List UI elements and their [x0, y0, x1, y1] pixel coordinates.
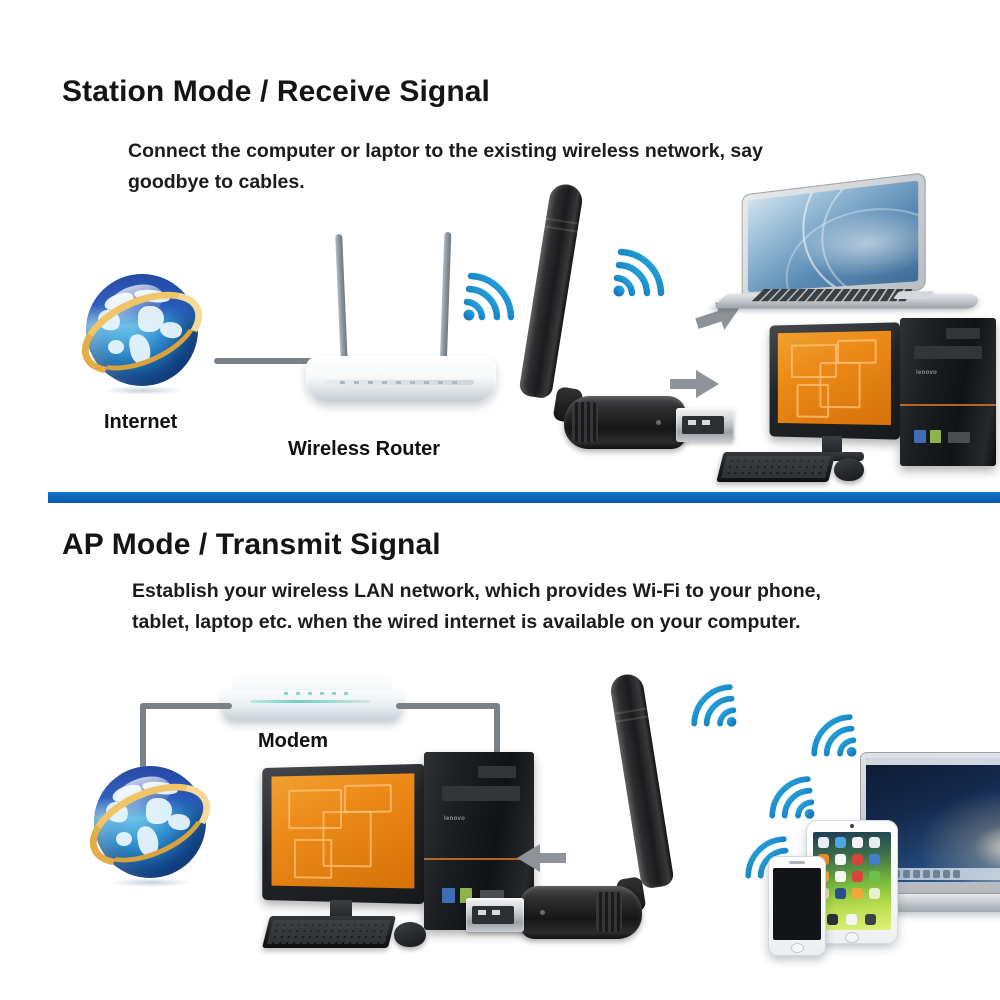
- cable-modem-to-internet: [140, 703, 232, 709]
- ap-mode-heading: AP Mode / Transmit Signal: [62, 528, 441, 562]
- section-ap-mode: AP Mode / Transmit Signal Establish your…: [0, 520, 1000, 1000]
- section-divider: [48, 492, 1000, 503]
- usb-wifi-adapter-device: [500, 666, 700, 956]
- wireless-router-label: Wireless Router: [288, 438, 440, 461]
- ap-mode-description: Establish your wireless LAN network, whi…: [132, 576, 822, 638]
- smartphone-device: [768, 856, 826, 956]
- infographic-page: Station Mode / Receive Signal Connect th…: [0, 0, 1000, 1000]
- wifi-signal-icon: [686, 680, 738, 744]
- laptop-device: [714, 184, 990, 316]
- wifi-signal-icon: [806, 710, 858, 774]
- modem-label: Modem: [258, 730, 328, 753]
- globe-internet-icon: [86, 760, 214, 888]
- section-station-mode: Station Mode / Receive Signal Connect th…: [0, 0, 1000, 495]
- wifi-signal-icon: [612, 244, 670, 316]
- internet-label: Internet: [104, 411, 177, 434]
- desktop-pc-device: lenovo: [714, 318, 1000, 486]
- modem-device: [222, 670, 402, 732]
- cable-modem-to-pc: [396, 703, 500, 709]
- globe-internet-icon: [78, 268, 206, 396]
- station-mode-heading: Station Mode / Receive Signal: [62, 75, 490, 109]
- usb-wifi-adapter-device: [500, 176, 700, 466]
